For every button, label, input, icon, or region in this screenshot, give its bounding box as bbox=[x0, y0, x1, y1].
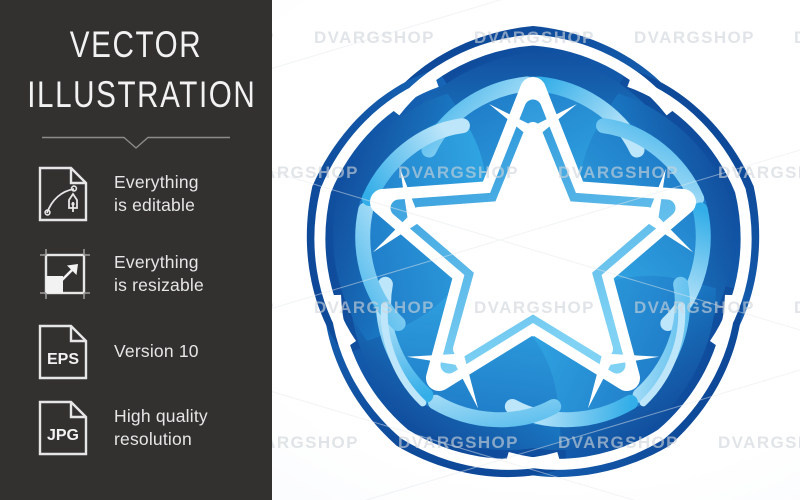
feature-row-editable[interactable]: Everything is editable bbox=[38, 166, 199, 222]
file-eps-badge-text: EPS bbox=[47, 351, 79, 368]
feature-row-resizable[interactable]: Everything is resizable bbox=[38, 246, 204, 302]
page-title-line-1: VECTOR bbox=[27, 26, 245, 63]
abstract-star-illustration bbox=[272, 0, 800, 500]
feature-row-version[interactable]: EPS Version 10 bbox=[38, 324, 199, 380]
document-pen-tool-icon bbox=[38, 166, 90, 222]
title-block: VECTOR ILLUSTRATION bbox=[0, 26, 272, 113]
divider-with-chevron bbox=[42, 136, 230, 150]
feature-label-resizable: Everything is resizable bbox=[114, 251, 204, 297]
page-title-line-2: ILLUSTRATION bbox=[27, 76, 245, 113]
file-eps-icon: EPS bbox=[38, 324, 90, 380]
feature-label-editable: Everything is editable bbox=[114, 171, 199, 217]
feature-label-version: Version 10 bbox=[114, 340, 199, 363]
resize-arrow-icon bbox=[38, 246, 90, 302]
sidebar: VECTOR ILLUSTRATION Everything is editab… bbox=[0, 0, 272, 500]
file-jpg-badge-text: JPG bbox=[47, 427, 79, 444]
feature-label-quality: High quality resolution bbox=[114, 405, 208, 451]
file-jpg-icon: JPG bbox=[38, 400, 90, 456]
poster-canvas: DVARGSHOPDVARGSHOPDVARGSHOPDVARGSHOPDVAR… bbox=[0, 0, 800, 500]
artwork-panel bbox=[272, 0, 800, 500]
feature-row-quality[interactable]: JPG High quality resolution bbox=[38, 400, 208, 456]
